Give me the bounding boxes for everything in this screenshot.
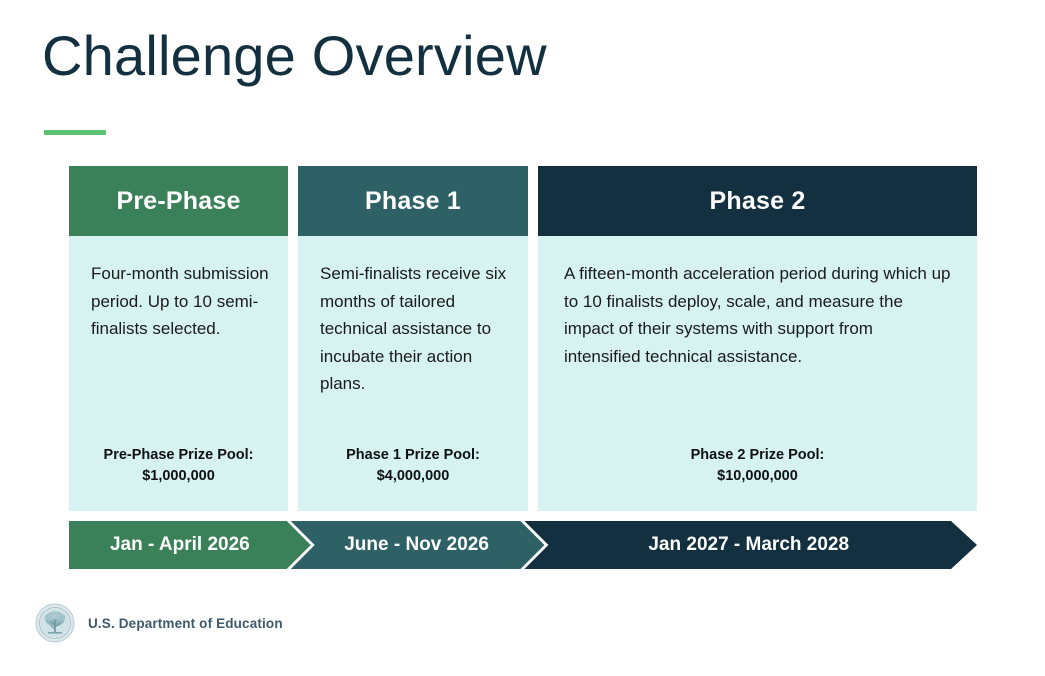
phase-description-phase-2: A fifteen-month acceleration period duri…	[564, 260, 953, 370]
date-chevron-phase-2: Jan 2027 - March 2028	[524, 521, 977, 569]
prize-amount-phase-1: $4,000,000	[298, 466, 528, 487]
phase-columns: Pre-Phase Four-month submission period. …	[69, 166, 977, 511]
phase-column-pre-phase: Pre-Phase Four-month submission period. …	[69, 166, 288, 511]
prize-label-phase-2: Phase 2 Prize Pool:	[691, 447, 825, 463]
phase-body-phase-1: Semi-finalists receive six months of tai…	[298, 236, 528, 511]
timeline-date-bar: Jan - April 2026 June - Nov 2026 Jan 202…	[69, 521, 977, 569]
title-accent-rule	[44, 130, 106, 135]
phase-description-phase-1: Semi-finalists receive six months of tai…	[320, 260, 510, 398]
phase-header-pre-phase: Pre-Phase	[69, 166, 288, 236]
phase-body-phase-2: A fifteen-month acceleration period duri…	[538, 236, 977, 511]
prize-amount-pre-phase: $1,000,000	[69, 466, 288, 487]
date-chevron-pre-phase: Jan - April 2026	[69, 521, 311, 569]
date-label-pre-phase: Jan - April 2026	[110, 534, 250, 556]
date-chevron-phase-1: June - Nov 2026	[291, 521, 545, 569]
challenge-timeline: Pre-Phase Four-month submission period. …	[69, 166, 977, 569]
phase-body-pre-phase: Four-month submission period. Up to 10 s…	[69, 236, 288, 511]
prize-label-pre-phase: Pre-Phase Prize Pool:	[104, 447, 254, 463]
footer: U.S. Department of Education	[35, 603, 283, 643]
prize-pool-phase-1: Phase 1 Prize Pool: $4,000,000	[298, 445, 528, 487]
date-label-phase-2: Jan 2027 - March 2028	[648, 534, 849, 556]
footer-organization-label: U.S. Department of Education	[88, 616, 283, 631]
page-title: Challenge Overview	[42, 24, 547, 88]
phase-column-phase-2: Phase 2 A fifteen-month acceleration per…	[538, 166, 977, 511]
prize-amount-phase-2: $10,000,000	[538, 466, 977, 487]
prize-pool-phase-2: Phase 2 Prize Pool: $10,000,000	[538, 445, 977, 487]
phase-header-phase-1: Phase 1	[298, 166, 528, 236]
date-label-phase-1: June - Nov 2026	[344, 534, 489, 556]
phase-column-phase-1: Phase 1 Semi-finalists receive six month…	[298, 166, 528, 511]
department-of-education-seal-icon	[35, 603, 75, 643]
prize-label-phase-1: Phase 1 Prize Pool:	[346, 447, 480, 463]
phase-header-phase-2: Phase 2	[538, 166, 977, 236]
prize-pool-pre-phase: Pre-Phase Prize Pool: $1,000,000	[69, 445, 288, 487]
phase-description-pre-phase: Four-month submission period. Up to 10 s…	[91, 260, 270, 343]
